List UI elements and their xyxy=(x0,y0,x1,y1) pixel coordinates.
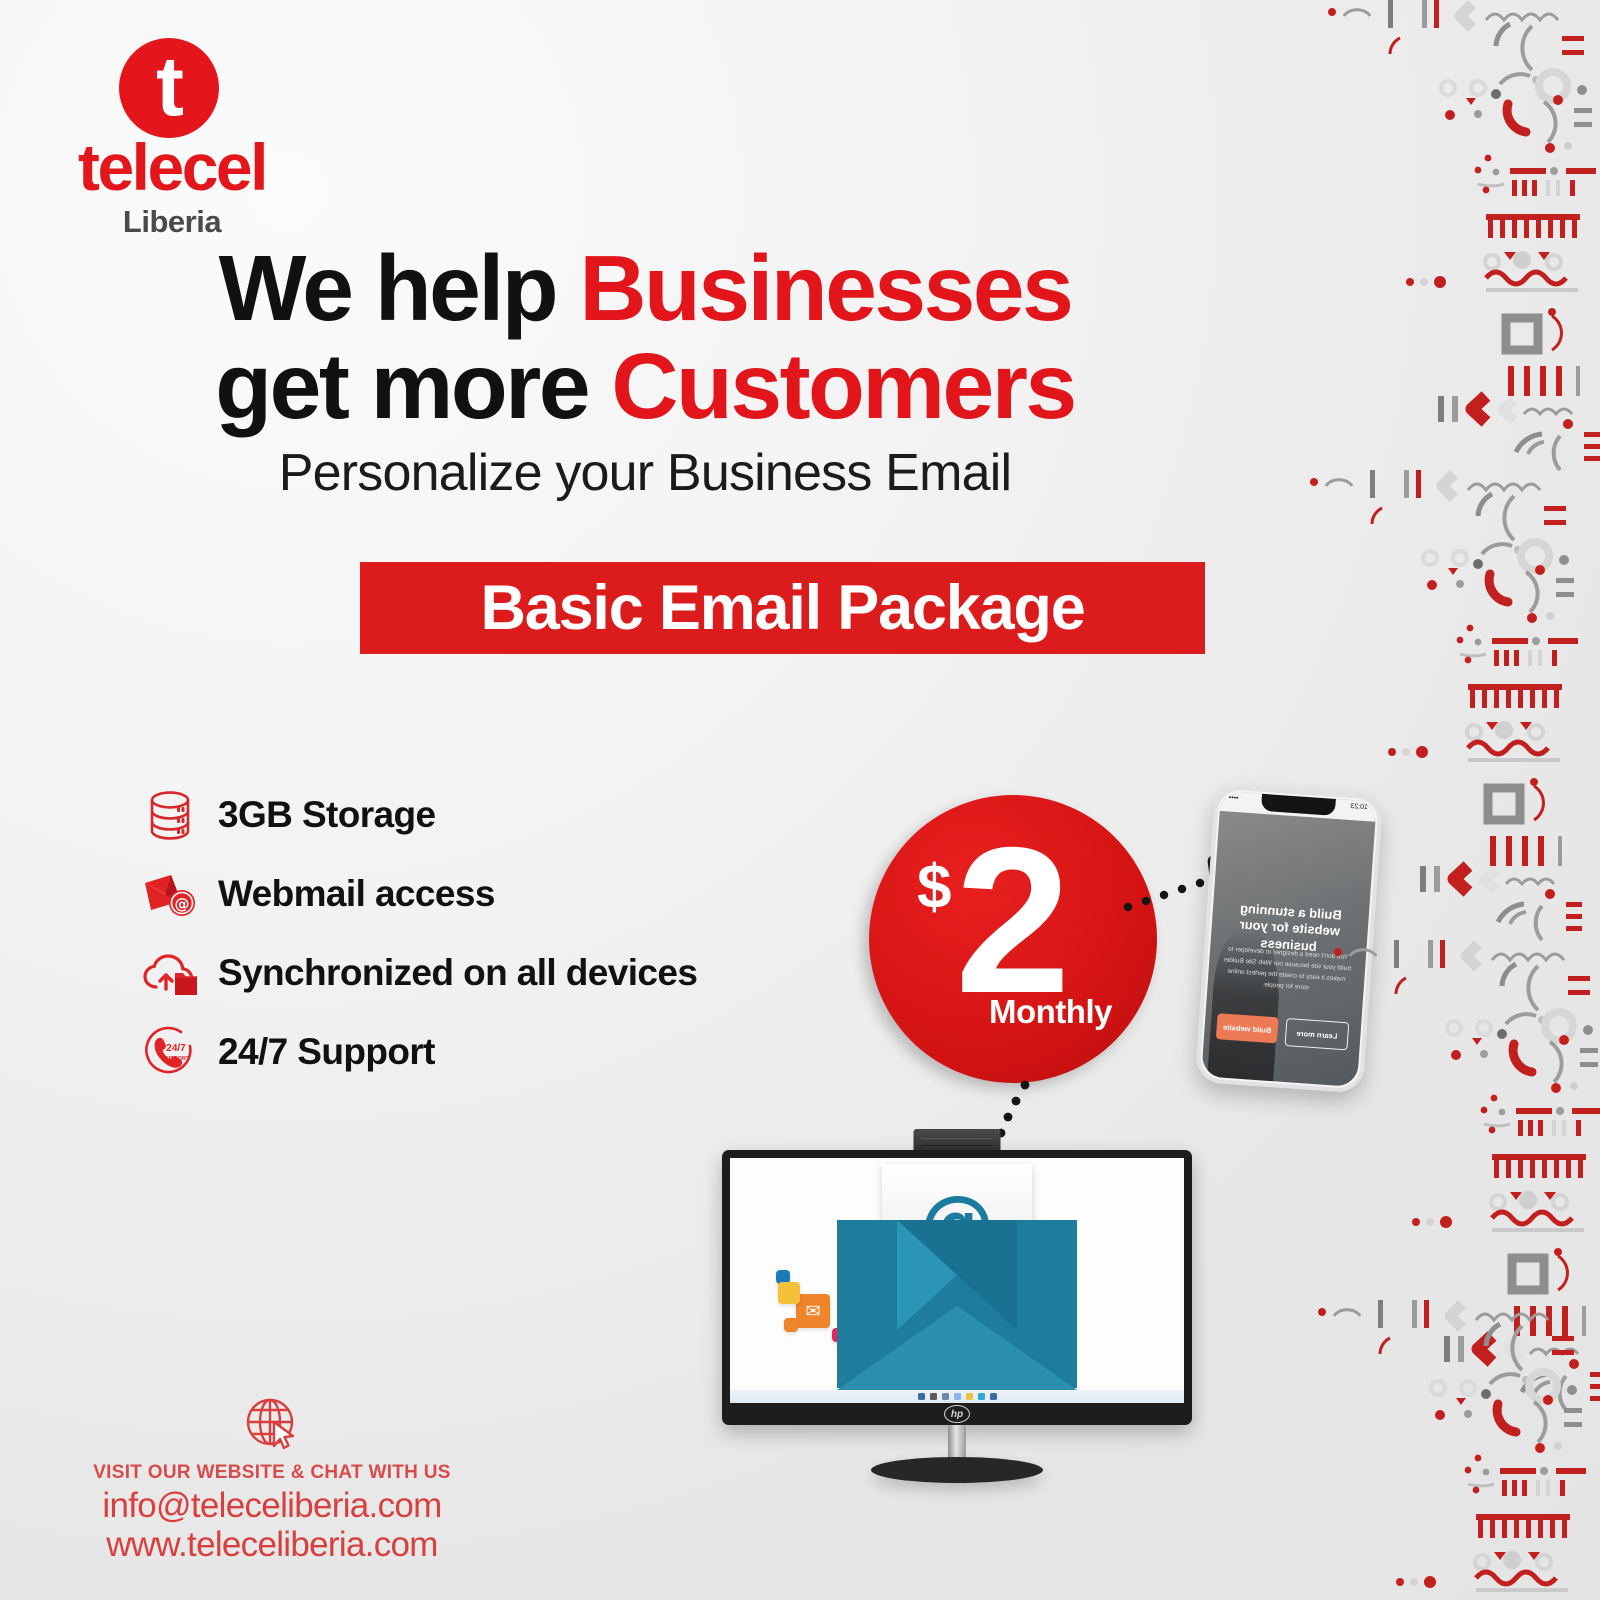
tile-lock-icon xyxy=(784,1318,798,1332)
phone-signal-indicator: •••• xyxy=(1228,794,1238,802)
taskbar-search-icon[interactable] xyxy=(930,1393,937,1400)
package-banner-label: Basic Email Package xyxy=(480,572,1084,644)
feature-list: 3GB Storage @ Webmail access xyxy=(132,775,892,1091)
footer-email[interactable]: info@teleceliberia.com xyxy=(62,1486,482,1525)
taskbar-chat-icon[interactable] xyxy=(954,1393,961,1400)
logo-letter: t xyxy=(156,44,182,128)
poster-canvas: t telecel Liberia We help Businesses get… xyxy=(0,0,1600,1600)
decor-motif-1 xyxy=(1328,0,1600,470)
email-illustration: ✉ @ 🔍 👍 📱 @ xyxy=(730,1158,1184,1403)
monitor-chin: hp xyxy=(722,1403,1192,1425)
monitor-screen: ✉ @ 🔍 👍 📱 @ xyxy=(730,1158,1184,1403)
support-247-icon: 24/7 SUPPORT xyxy=(132,1020,208,1084)
decor-motif-4 xyxy=(1318,1300,1590,1600)
headline-block: We help Businesses get more Customers xyxy=(0,240,1290,435)
monitor-stand-neck xyxy=(948,1425,966,1461)
feature-label-support: 24/7 Support xyxy=(218,1031,435,1073)
headline-line2-red: Customers xyxy=(611,334,1074,438)
monitor-frame: ✉ @ 🔍 👍 📱 @ xyxy=(722,1150,1192,1425)
envelope-front xyxy=(837,1306,1077,1390)
logo-wordmark: telecel xyxy=(42,134,302,200)
footer-contact-block: VISIT OUR WEBSITE & CHAT WITH US info@te… xyxy=(62,1392,482,1564)
headline-line1-dark: We help xyxy=(219,236,580,340)
telecel-logo: t telecel Liberia xyxy=(42,38,342,218)
envelope-at-icon: @ xyxy=(132,862,208,926)
footer-visit-text: VISIT OUR WEBSITE & CHAT WITH US xyxy=(62,1462,482,1484)
logo-country-label: Liberia xyxy=(42,206,302,237)
feature-label-storage: 3GB Storage xyxy=(218,794,436,836)
tile-envelope-icon: ✉ xyxy=(796,1294,830,1328)
cloud-sync-folder-icon xyxy=(132,941,208,1005)
feature-label-sync: Synchronized on all devices xyxy=(218,952,697,994)
monitor-webcam-bar xyxy=(914,1129,1001,1152)
package-banner: Basic Email Package xyxy=(360,562,1205,654)
taskbar-start-icon[interactable] xyxy=(918,1393,925,1400)
monitor-mockup: ✉ @ 🔍 👍 📱 @ xyxy=(722,1105,1192,1485)
windows-taskbar[interactable] xyxy=(730,1390,1184,1403)
feature-item-webmail: @ Webmail access xyxy=(132,854,892,933)
feature-label-webmail: Webmail access xyxy=(218,873,495,915)
taskbar-store-icon[interactable] xyxy=(990,1393,997,1400)
taskbar-widgets-icon[interactable] xyxy=(942,1393,949,1400)
globe-cursor-icon xyxy=(240,1392,304,1456)
footer-website[interactable]: www.teleceliberia.com xyxy=(62,1525,482,1564)
svg-text:24/7: 24/7 xyxy=(166,1043,186,1054)
feature-item-sync: Synchronized on all devices xyxy=(132,933,892,1012)
decor-svg xyxy=(1300,0,1600,1600)
taskbar-explorer-icon[interactable] xyxy=(966,1393,973,1400)
headline-line2-dark: get more xyxy=(215,334,611,438)
price-period: Monthly xyxy=(989,993,1112,1031)
hp-brand-logo: hp xyxy=(944,1405,970,1423)
price-badge: $ 2 Monthly xyxy=(869,795,1157,1083)
abstract-pattern-strip xyxy=(1300,0,1600,1600)
feature-item-support: 24/7 SUPPORT 24/7 Support xyxy=(132,1012,892,1091)
price-currency: $ xyxy=(917,857,951,919)
monitor-stand-base xyxy=(871,1457,1043,1483)
feature-item-storage: 3GB Storage xyxy=(132,775,892,854)
phone-build-website-button[interactable]: Build website xyxy=(1216,1013,1279,1043)
headline-line-2: get more Customers xyxy=(0,338,1290,436)
database-icon xyxy=(132,783,208,847)
svg-text:SUPPORT: SUPPORT xyxy=(162,1056,190,1062)
subtitle: Personalize your Business Email xyxy=(0,443,1290,503)
logo-circle-mark: t xyxy=(119,38,219,138)
tile-home-icon xyxy=(778,1282,800,1304)
taskbar-edge-icon[interactable] xyxy=(978,1393,985,1400)
headline-line1-red: Businesses xyxy=(579,236,1071,340)
decor-motif-2 xyxy=(1310,470,1582,940)
svg-text:@: @ xyxy=(175,895,190,913)
headline-line-1: We help Businesses xyxy=(0,240,1290,338)
